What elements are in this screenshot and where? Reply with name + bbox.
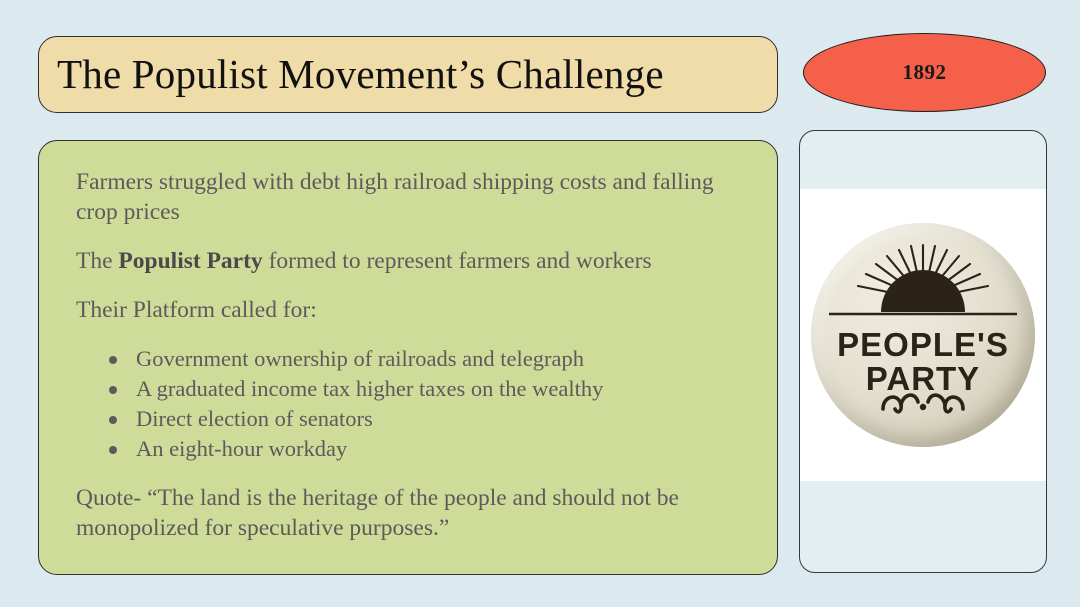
slide-title-box: The Populist Movement’s Challenge (38, 36, 778, 113)
year-badge-label: 1892 (903, 60, 947, 85)
pin-text-line-2: PARTY (811, 360, 1035, 398)
body-paragraph-platform-intro: Their Platform called for: (76, 295, 736, 325)
list-item: Direct election of senators (94, 404, 747, 434)
page-title: The Populist Movement’s Challenge (57, 53, 664, 96)
pin-text-line-1: PEOPLE'S (811, 326, 1035, 364)
body-paragraph-farmers: Farmers struggled with debt high railroa… (76, 167, 736, 227)
list-item: An eight-hour workday (94, 434, 747, 464)
peoples-party-campaign-button-image: PEOPLE'S PARTY (811, 223, 1035, 447)
body-paragraph-quote: Quote- “The land is the heritage of the … (76, 483, 736, 543)
year-badge: 1892 (803, 33, 1046, 112)
picture-panel: PEOPLE'S PARTY (799, 130, 1047, 573)
list-item: Government ownership of railroads and te… (94, 344, 747, 374)
platform-list: Government ownership of railroads and te… (76, 344, 747, 464)
list-item: A graduated income tax higher taxes on t… (94, 374, 747, 404)
picture-image-area: PEOPLE'S PARTY (800, 189, 1046, 481)
populist-party-emphasis: Populist Party (118, 248, 262, 274)
slide-body-box: Farmers struggled with debt high railroa… (38, 140, 778, 575)
paragraph-prefix: The (76, 248, 118, 274)
slide-canvas: The Populist Movement’s Challenge 1892 F… (0, 0, 1080, 607)
paragraph-suffix: formed to represent farmers and workers (263, 248, 652, 274)
body-paragraph-populist-party: The Populist Party formed to represent f… (76, 246, 736, 276)
